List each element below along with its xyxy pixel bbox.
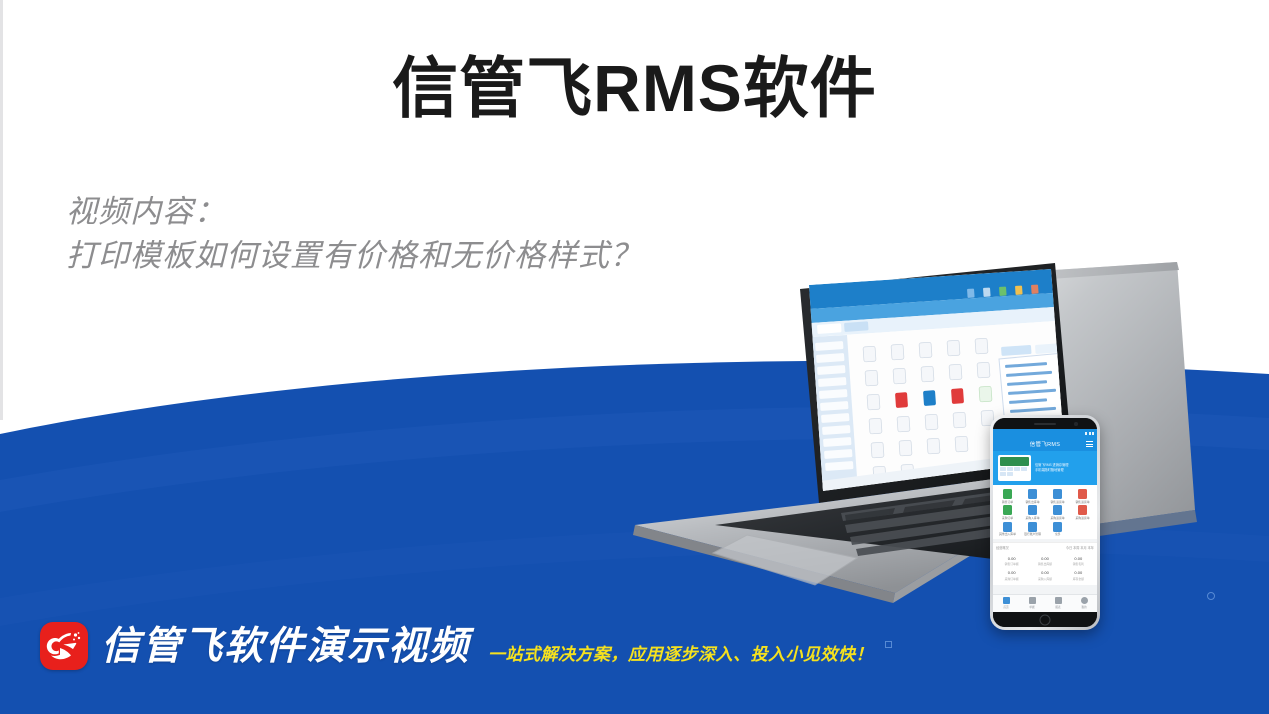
tab-label: 单据 [1029,605,1034,609]
tab-reports[interactable]: 报表 [1045,597,1071,609]
overview-section-header: 经营概况 今日 本周 本月 本年 [993,542,1097,552]
grid-item-label: 采购订单 [1002,517,1013,520]
stat-value: 0.00 [1008,556,1016,561]
grid-item[interactable]: 销售退货单 [1045,489,1070,503]
grid-item[interactable]: 销售退货单 [1070,489,1095,503]
home-button-icon[interactable] [1040,614,1051,625]
overview-filters[interactable]: 今日 本周 本月 本年 [1066,545,1094,550]
front-camera-icon [1074,422,1078,426]
grid-item-label: 采购入库单 [1026,517,1040,520]
grid-item-label: 其他出入库单 [999,533,1016,536]
order-icon [1078,489,1087,499]
wifi-icon [1089,432,1091,435]
grid-item-label: 全部 [1055,533,1061,536]
grid-item[interactable]: 银行账户管理 [1020,522,1045,536]
signal-icon [1085,432,1087,435]
decor-circle [1207,592,1215,600]
hamburger-icon[interactable] [1086,441,1093,449]
tab-documents[interactable]: 单据 [1019,597,1045,609]
grid-item[interactable]: 采购退货单 [1070,505,1095,519]
stat-item: 0.00销售订单额 [995,556,1028,567]
home-icon [1003,597,1010,604]
overview-stats: 0.00销售订单额 0.00销售出库额 0.00销售毛利 0.00采购订单额 0… [993,552,1097,585]
order-icon [1003,522,1012,532]
brand-logo [40,622,88,670]
stat-value: 0.00 [1008,570,1016,575]
function-grid: 销售订单 销售出库单 销售退货单 销售退货单 采购订单 采购入库单 采购退货单 … [993,485,1097,539]
stat-value: 0.00 [1041,570,1049,575]
grid-item[interactable]: 销售订单 [995,489,1020,503]
speaker-grill-icon [1034,423,1056,426]
grid-item-label: 银行账户管理 [1024,533,1041,536]
xinguanfei-bird-logo-icon [40,622,88,670]
stat-value: 0.00 [1041,556,1049,561]
decor-square [885,641,892,648]
order-icon [1053,505,1062,515]
stat-label: 销售订单额 [1005,562,1019,566]
footer-brand-bar: 信管飞软件演示视频 一站式解决方案，应用逐步深入、投入小见效快！ [40,622,873,670]
stat-label: 库存金额 [1073,577,1084,581]
grid-item-label: 销售出库单 [1026,501,1040,504]
slide-canvas: 信管飞RMS软件 视频内容： 打印模板如何设置有价格和无价格样式？ [0,0,1269,714]
grid-item[interactable]: 销售出库单 [1020,489,1045,503]
overview-title: 经营概况 [996,545,1009,550]
phone-inner: 信管飞RMS 信管飞RMS 进销存管理手机端随时随地管理 [993,418,1097,627]
stat-label: 销售出库额 [1038,562,1052,566]
order-icon [1028,505,1037,515]
tab-label: 我的 [1081,605,1086,609]
order-icon [1003,505,1012,515]
brand-name: 信管飞软件演示视频 [101,627,470,666]
stat-item: 0.00销售出库额 [1028,556,1061,567]
tab-label: 首页 [1003,605,1008,609]
order-icon [1003,489,1012,499]
video-content-label: 视频内容： [66,190,642,234]
video-content-question: 打印模板如何设置有价格和无价格样式？ [66,234,642,278]
phone-screen: 信管飞RMS 信管飞RMS 进销存管理手机端随时随地管理 [993,429,1097,612]
grid-item[interactable]: 其他出入库单 [995,522,1020,536]
video-content-block: 视频内容： 打印模板如何设置有价格和无价格样式？ [66,190,642,278]
order-icon [1078,505,1087,515]
stat-label: 销售毛利 [1073,562,1084,566]
phone-home-bar [993,612,1097,627]
grid-item[interactable]: 采购退货单 [1045,505,1070,519]
page-title: 信管飞RMS软件 [0,52,1269,125]
grid-item-label: 采购退货单 [1076,517,1090,520]
stat-item: 0.00销售毛利 [1062,556,1095,567]
promo-banner[interactable]: 信管飞RMS 进销存管理手机端随时随地管理 [993,451,1097,485]
mobile-app-title: 信管飞RMS [1030,440,1061,448]
user-icon [1081,597,1088,604]
tab-label: 报表 [1055,605,1060,609]
grid-item[interactable]: 采购订单 [995,505,1020,519]
order-icon [1028,489,1037,499]
status-bar [993,429,1097,437]
grid-item-label: 销售退货单 [1076,501,1090,504]
mobile-app-header: 信管飞RMS [993,437,1097,451]
brand-tagline: 一站式解决方案，应用逐步深入、投入小见效快！ [488,640,873,665]
grid-item-label: 销售退货单 [1051,501,1065,504]
stat-item: 0.00采购订单额 [995,570,1028,581]
tab-profile[interactable]: 我的 [1071,597,1097,609]
smartphone-mockup: 信管飞RMS 信管飞RMS 进销存管理手机端随时随地管理 [990,415,1100,630]
battery-icon [1092,432,1094,435]
bank-icon [1028,522,1037,532]
device-mockups: 信管飞RMS 信管飞RMS 进销存管理手机端随时随地管理 [595,255,1205,640]
stat-label: 采购入库额 [1038,577,1052,581]
stat-label: 采购订单额 [1005,577,1019,581]
grid-item-empty [1070,522,1095,536]
stat-value: 0.00 [1074,556,1082,561]
chart-icon [1055,597,1062,604]
bottom-tab-bar: 首页 单据 报表 我的 [993,594,1097,612]
stat-item: 0.00采购入库额 [1028,570,1061,581]
phone-earpiece [993,418,1097,429]
order-icon [1053,489,1062,499]
tab-home[interactable]: 首页 [993,597,1019,609]
phone-body: 信管飞RMS 信管飞RMS 进销存管理手机端随时随地管理 [990,415,1100,630]
grid-item[interactable]: 全部 [1045,522,1070,536]
stat-value: 0.00 [1074,570,1082,575]
grid-item[interactable]: 采购入库单 [1020,505,1045,519]
grid-item-label: 销售订单 [1002,501,1013,504]
banner-caption: 信管飞RMS 进销存管理手机端随时随地管理 [1035,463,1068,473]
grid-item-label: 采购退货单 [1051,517,1065,520]
document-icon [1029,597,1036,604]
stat-item: 0.00库存金额 [1062,570,1095,581]
grid-more-icon [1053,522,1062,532]
banner-thumbnail-icon [998,455,1031,481]
